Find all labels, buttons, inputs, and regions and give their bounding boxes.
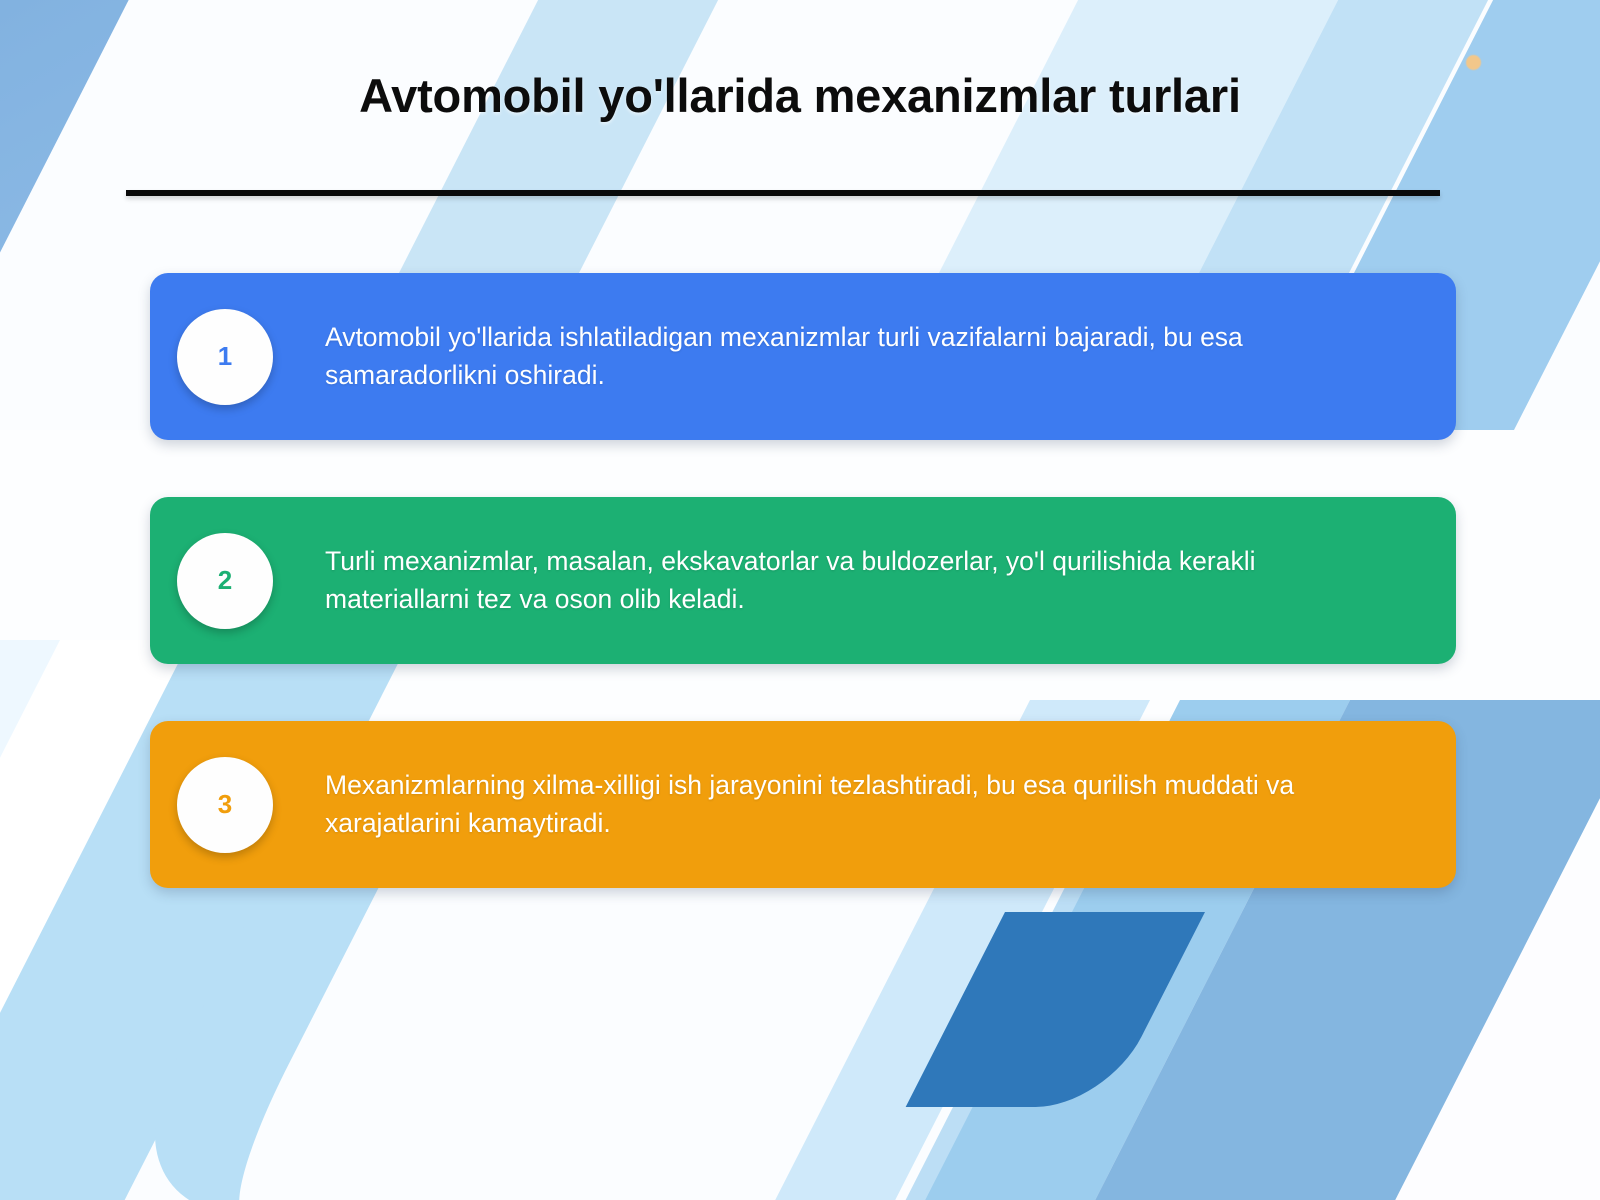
card-list: 1 Avtomobil yo'llarida ishlatiladigan me…	[150, 273, 1456, 888]
badge-number: 1	[218, 341, 232, 372]
list-item[interactable]: 3 Mexanizmlarning xilma-xilligi ish jara…	[150, 721, 1456, 888]
slide-content: Avtomobil yo'llarida mexanizmlar turlari…	[0, 0, 1600, 1200]
badge-number: 2	[218, 565, 232, 596]
page-title: Avtomobil yo'llarida mexanizmlar turlari	[0, 68, 1600, 123]
number-badge: 3	[177, 757, 273, 853]
slide-canvas: Avtomobil yo'llarida mexanizmlar turlari…	[0, 0, 1600, 1200]
number-badge: 1	[177, 309, 273, 405]
number-badge: 2	[177, 533, 273, 629]
badge-number: 3	[218, 789, 232, 820]
list-item[interactable]: 2 Turli mexanizmlar, masalan, ekskavator…	[150, 497, 1456, 664]
card-description: Mexanizmlarning xilma-xilligi ish jarayo…	[325, 767, 1392, 842]
card-description: Avtomobil yo'llarida ishlatiladigan mexa…	[325, 319, 1392, 394]
list-item[interactable]: 1 Avtomobil yo'llarida ishlatiladigan me…	[150, 273, 1456, 440]
title-divider	[126, 190, 1440, 196]
card-description: Turli mexanizmlar, masalan, ekskavatorla…	[325, 543, 1392, 618]
